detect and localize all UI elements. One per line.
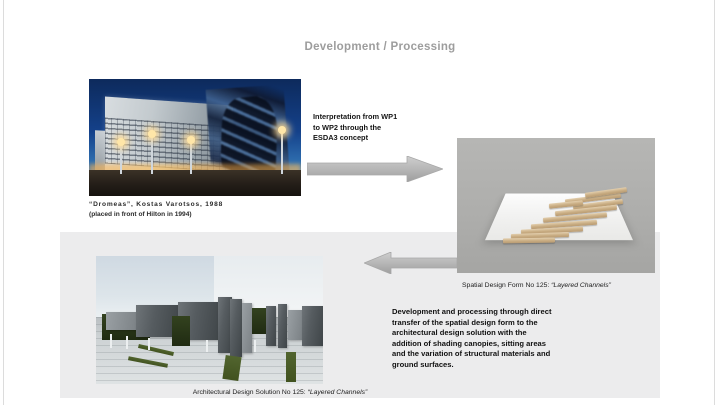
street-lamp-icon <box>281 130 283 174</box>
render-green-strip <box>222 355 241 381</box>
development-description-line5: and the variation of structural material… <box>392 349 597 360</box>
development-description: Development and processing through direc… <box>392 307 597 371</box>
development-description-line3: architectural design solution with the <box>392 328 597 339</box>
caption-spatial-quoted: “Layered Channels” <box>551 282 611 289</box>
render-wall-slab <box>266 306 276 346</box>
development-description-line6: ground surfaces. <box>392 360 597 371</box>
interpretation-annotation-line1: Interpretation from WP1 <box>313 112 433 123</box>
photo-spatial-model <box>457 138 655 273</box>
caption-dromeas-line1: “Dromeas”, Kostas Varotsos, 1988 <box>89 200 304 210</box>
arrow-right-icon <box>307 156 443 182</box>
caption-spatial-prefix: Spatial Design Form No 125: <box>462 282 551 289</box>
slide-frame-right-line <box>714 0 715 405</box>
street-lamp-icon <box>151 134 153 174</box>
caption-arch-prefix: Architectural Design Solution No 125: <box>193 389 308 396</box>
render-bollard <box>148 338 150 350</box>
development-description-line2: transfer of the spatial design form to t… <box>392 318 597 329</box>
presentation-slide: Development / Processing “Dromeas”, Kost… <box>0 0 720 405</box>
street-lamp-icon <box>120 142 122 174</box>
render-wall-slab <box>230 299 242 357</box>
interpretation-annotation-line3: ESDA3 concept <box>313 133 433 144</box>
render-wall-slab <box>242 303 252 353</box>
render-bollard <box>254 340 256 352</box>
photo-hilton-dromeas <box>89 79 301 196</box>
render-hedge <box>172 316 190 346</box>
street-lamp-icon <box>190 140 192 174</box>
photo-architectural-rendering <box>96 256 323 384</box>
render-wall-slab <box>302 306 323 346</box>
arrow-left-icon <box>364 252 457 274</box>
caption-arch-quoted: “Layered Channels” <box>308 389 368 396</box>
caption-dromeas-line2: (placed in front of Hilton in 1994) <box>89 210 304 220</box>
development-description-line4: addition of shading canopies, sitting ar… <box>392 339 597 350</box>
render-wall-slab <box>288 310 302 340</box>
render-green-strip <box>286 352 296 382</box>
render-bollard <box>126 336 128 349</box>
render-bollard <box>206 340 208 352</box>
render-bollard <box>110 334 112 348</box>
caption-dromeas: “Dromeas”, Kostas Varotsos, 1988 (placed… <box>89 200 304 219</box>
interpretation-annotation-line2: to WP2 through the <box>313 123 433 134</box>
render-wall-slab <box>106 312 138 330</box>
render-wall-slab <box>278 304 287 348</box>
model-stick <box>503 238 555 244</box>
slide-frame-left-line <box>3 0 4 405</box>
caption-architectural-solution: Architectural Design Solution No 125: “L… <box>140 388 420 397</box>
page-title: Development / Processing <box>255 41 505 53</box>
caption-spatial-design-form: Spatial Design Form No 125: “Layered Cha… <box>462 281 682 290</box>
interpretation-annotation: Interpretation from WP1 to WP2 through t… <box>313 112 433 144</box>
development-description-line1: Development and processing through direc… <box>392 307 597 318</box>
